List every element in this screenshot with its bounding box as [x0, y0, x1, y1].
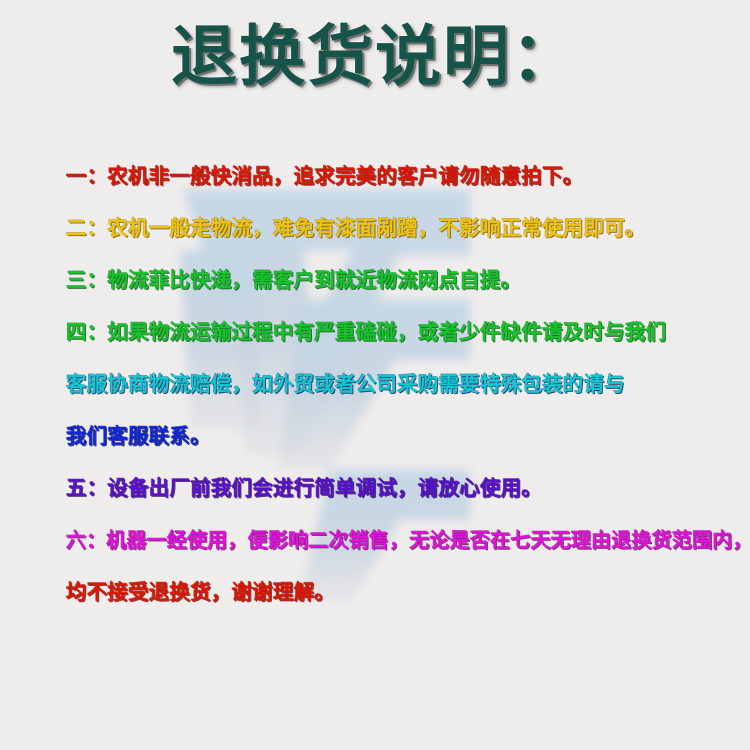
page-title-block: 退换货说明： — [0, 24, 750, 90]
page-content: 退换货说明： 一：农机非一般快消品，追求完美的客户请勿随意拍下。 二：农机一般走… — [0, 0, 750, 750]
policy-line: 一：农机非一般快消品，追求完美的客户请勿随意拍下。 — [66, 150, 738, 202]
return-policy-page: 退换货说明： 一：农机非一般快消品，追求完美的客户请勿随意拍下。 二：农机一般走… — [0, 0, 750, 750]
policy-line: 三：物流菲比快递，需客户到就近物流网点自提。 — [66, 254, 738, 306]
page-title: 退换货说明： — [171, 24, 579, 90]
policy-line: 六：机器一经使用，便影响二次销售，无论是否在七天无理由退换货范围内， — [66, 514, 738, 566]
policy-lines: 一：农机非一般快消品，追求完美的客户请勿随意拍下。 二：农机一般走物流，难免有漆… — [66, 150, 738, 618]
policy-line: 四：如果物流运输过程中有严重磕碰，或者少件缺件请及时与我们 — [66, 306, 738, 358]
policy-line: 客服协商物流赔偿，如外贸或者公司采购需要特殊包装的请与 — [66, 358, 738, 410]
policy-line: 我们客服联系。 — [66, 410, 738, 462]
policy-line: 均不接受退换货，谢谢理解。 — [66, 566, 738, 618]
policy-line: 五：设备出厂前我们会进行简单调试，请放心使用。 — [66, 462, 738, 514]
policy-line: 二：农机一般走物流，难免有漆面剐蹭，不影响正常使用即可。 — [66, 202, 738, 254]
